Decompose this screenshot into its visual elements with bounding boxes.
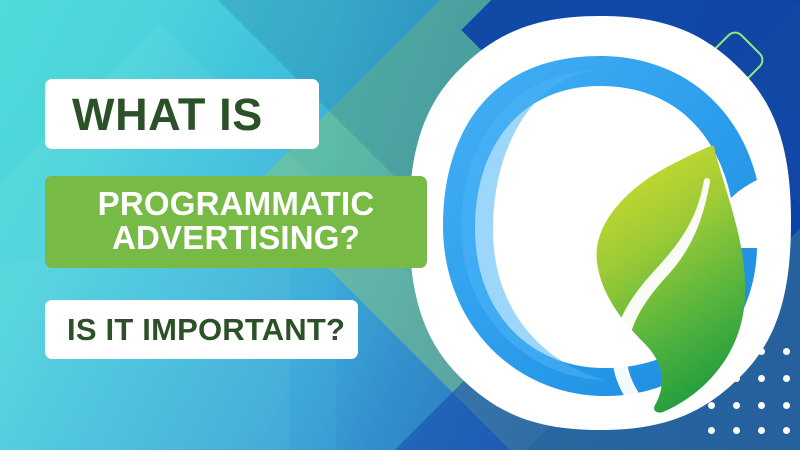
- subheadline: IS IT IMPORTANT?: [45, 300, 358, 359]
- headline-line-2-highlight: PROGRAMMATIC ADVERTISING?: [45, 176, 427, 268]
- subheadline-text: IS IT IMPORTANT?: [67, 314, 345, 345]
- promo-banner: WHAT IS PROGRAMMATIC ADVERTISING? IS IT …: [0, 0, 800, 450]
- headline-line-2-text-part2: ADVERTISING?: [112, 221, 360, 255]
- headline-line-1-text: WHAT IS: [72, 92, 263, 137]
- headline-line-1: WHAT IS: [45, 79, 319, 149]
- headline-line-2-text-part1: PROGRAMMATIC: [98, 187, 375, 221]
- dot-grid-decoration: [700, 338, 796, 434]
